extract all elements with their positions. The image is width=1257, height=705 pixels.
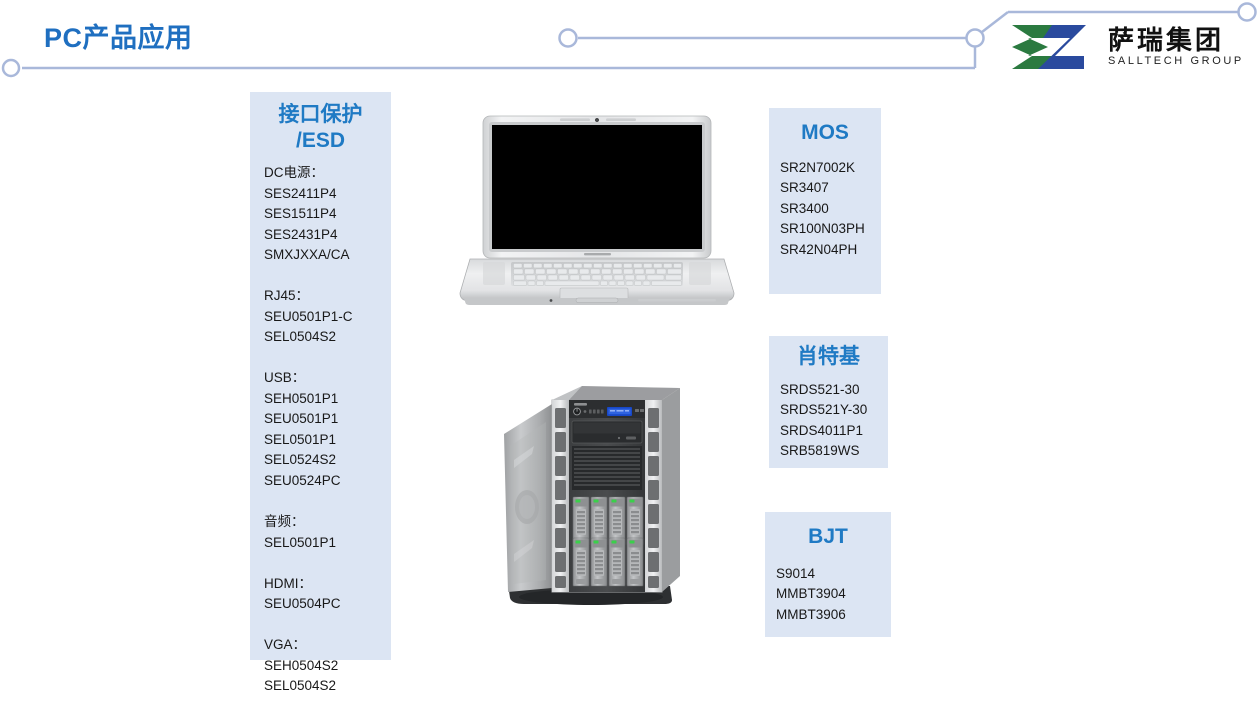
panel-bjt-title: BJT bbox=[765, 524, 891, 550]
panel-schottky-part-list: SRDS521-30 SRDS521Y-30 SRDS4011P1 SRB581… bbox=[769, 370, 888, 462]
panel-bjt-part-list: S9014 MMBT3904 MMBT3906 bbox=[765, 550, 891, 626]
panel-bjt: BJT S9014 MMBT3904 MMBT3906 bbox=[765, 512, 891, 637]
page-title: PC产品应用 bbox=[44, 16, 193, 55]
company-logo: 萨瑞集团 SALLTECH GROUP bbox=[1008, 18, 1248, 76]
panel-interface-protection-esd: 接口保护 /ESD DC电源： SES2411P4 SES1511P4 SES2… bbox=[250, 92, 391, 660]
tower-server-photo bbox=[494, 342, 694, 614]
panel-mos-part-list: SR2N7002K SR3407 SR3400 SR100N03PH SR42N… bbox=[769, 146, 881, 261]
laptop-photo bbox=[456, 112, 738, 308]
panel-esd-part-list: DC电源： SES2411P4 SES1511P4 SES2431P4 SMXJ… bbox=[250, 153, 391, 696]
panel-esd-title: 接口保护 /ESD bbox=[250, 102, 391, 153]
salltech-logo-mark bbox=[1008, 22, 1100, 72]
panel-mos-title: MOS bbox=[769, 120, 881, 146]
panel-schottky-title: 肖特基 bbox=[769, 344, 888, 370]
page-header: PC产品应用 萨瑞集团 SALLTECH GROUP bbox=[0, 0, 1257, 88]
logo-name-en: SALLTECH GROUP bbox=[1108, 55, 1244, 67]
panel-schottky: 肖特基 SRDS521-30 SRDS521Y-30 SRDS4011P1 SR… bbox=[769, 336, 888, 468]
panel-mos: MOS SR2N7002K SR3407 SR3400 SR100N03PH S… bbox=[769, 108, 881, 294]
logo-name-cn: 萨瑞集团 bbox=[1108, 27, 1244, 54]
logo-wordmark: 萨瑞集团 SALLTECH GROUP bbox=[1108, 27, 1244, 67]
